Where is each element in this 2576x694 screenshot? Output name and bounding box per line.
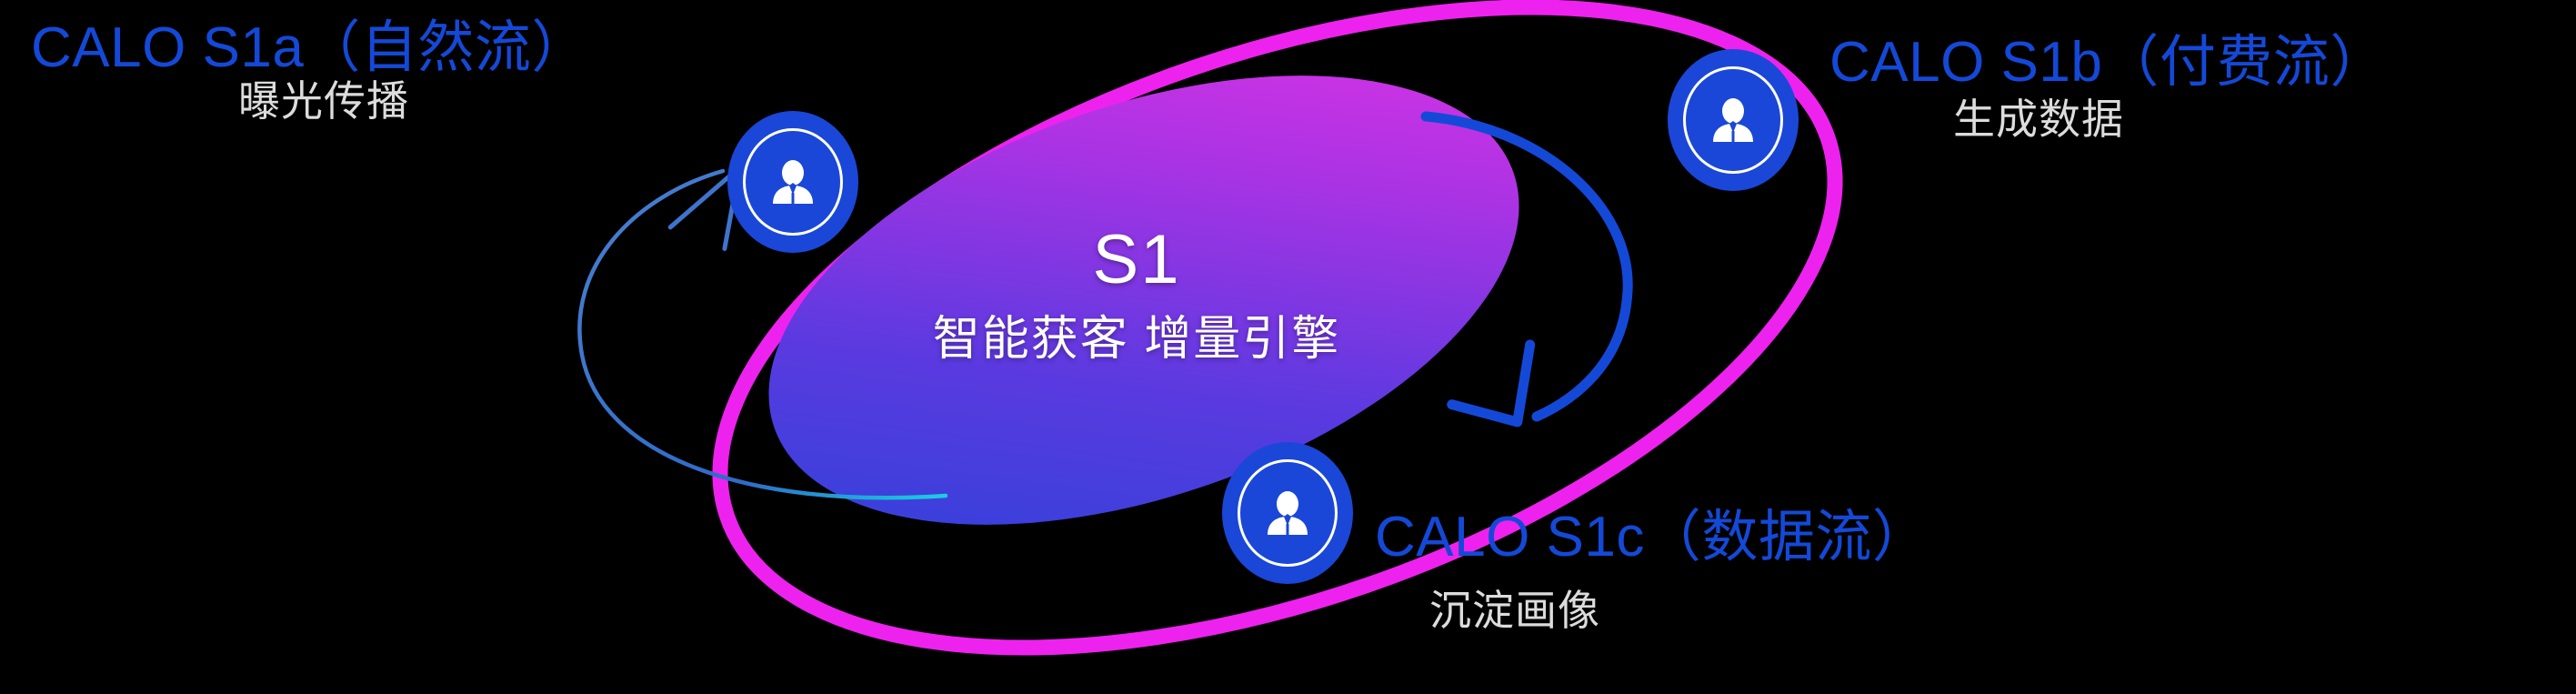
badge-circle: [1668, 49, 1799, 191]
core-subtitle: 智能获客 增量引擎: [846, 300, 1428, 368]
badge-circle: [1222, 442, 1353, 584]
node-subtitle-s1c: 沉淀画像: [1429, 589, 1600, 631]
person-badge-icon: [764, 153, 822, 211]
node-subtitle-s1a: 曝光传播: [238, 80, 409, 122]
node-badge-s1b[interactable]: [1668, 49, 1799, 191]
person-badge-icon: [1258, 484, 1317, 542]
person-badge-icon: [1704, 91, 1762, 149]
node-title-s1a: CALO S1a（自然流）: [31, 20, 588, 76]
core-title: S1: [982, 220, 1291, 299]
node-badge-s1c[interactable]: [1222, 442, 1353, 584]
diagram-canvas: S1 智能获客 增量引擎: [0, 0, 2576, 694]
badge-circle: [727, 111, 858, 253]
node-badge-s1a[interactable]: [727, 111, 858, 253]
node-title-s1c: CALO S1c（数据流）: [1375, 509, 1929, 566]
node-subtitle-s1b: 生成数据: [1953, 98, 2124, 140]
node-title-s1b: CALO S1b（付费流）: [1829, 35, 2387, 91]
